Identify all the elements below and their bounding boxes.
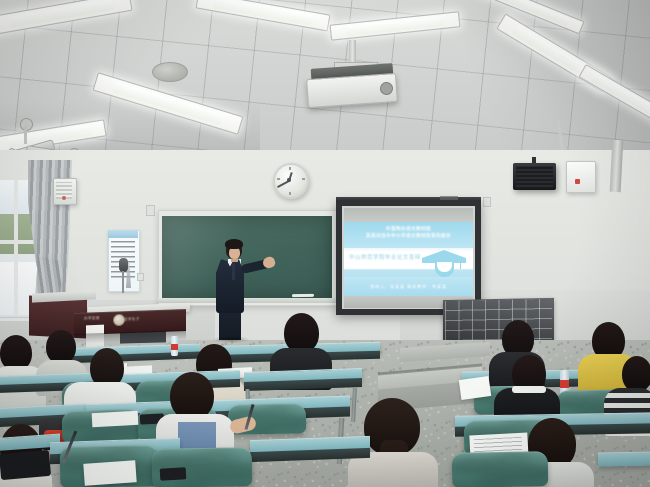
microphone-stem: [122, 271, 124, 293]
clock-center-pin: [287, 178, 291, 182]
window-mullion-vertical: [14, 180, 18, 315]
slide-title-line2: 及其对当今中小学语文教材改革的启示: [344, 232, 473, 239]
desk-row-d4: [598, 451, 650, 466]
ceiling-speaker-icon: [152, 62, 188, 82]
phone: [160, 467, 187, 480]
podium-logo-text-right: 至学先子: [124, 317, 152, 323]
presentation-slide: 叶圣陶论语文教材观 及其对当今中小学语文教材改革的启示 中山师范学院毕业论文答辩…: [344, 222, 473, 297]
bottle-label: [171, 344, 178, 350]
podium-logo-text-left: 办学会馆: [84, 316, 110, 322]
graduation-cap-icon: [422, 250, 466, 280]
bottle-label: [560, 380, 569, 388]
audience-head: [284, 313, 319, 353]
chair: [152, 447, 253, 487]
chalk-stick: [292, 294, 314, 297]
collar: [512, 386, 546, 393]
audience-head: [46, 330, 76, 364]
presenter-floor-shadow: [212, 336, 250, 343]
presenter-tie: [232, 263, 235, 280]
poster-header-band: [108, 230, 138, 238]
slide-footer-text: 答辩人：张某某 指导教师：李某某: [344, 284, 473, 290]
speaker-grill-icon: [516, 166, 553, 187]
notebook: [83, 460, 136, 486]
classroom-photo: 叶圣陶论语文教材观 及其对当今中小学语文教材改革的启示 中山师范学院毕业论文答辩…: [0, 0, 650, 487]
wall-outlet-plate: [146, 205, 155, 216]
speaker-indicator-icon: [62, 196, 66, 200]
ceiling-fan-rod: [24, 126, 27, 144]
presenter-jacket: [216, 259, 244, 313]
wall-outlet-plate: [483, 197, 491, 207]
audience-head: [170, 372, 214, 420]
wall-clock: [273, 163, 309, 199]
audience-head: [622, 356, 650, 392]
wall-outlet-plate: [137, 273, 144, 281]
control-box-indicator-icon: [575, 179, 580, 184]
notebook: [459, 376, 491, 400]
chair: [452, 451, 549, 487]
tablet: [0, 450, 51, 480]
paper-sheet: [92, 411, 139, 427]
presenter-hair: [225, 239, 243, 249]
wall-control-box: [566, 161, 596, 193]
blackboard-glare: [162, 216, 332, 299]
podium-microphone: [119, 258, 128, 272]
